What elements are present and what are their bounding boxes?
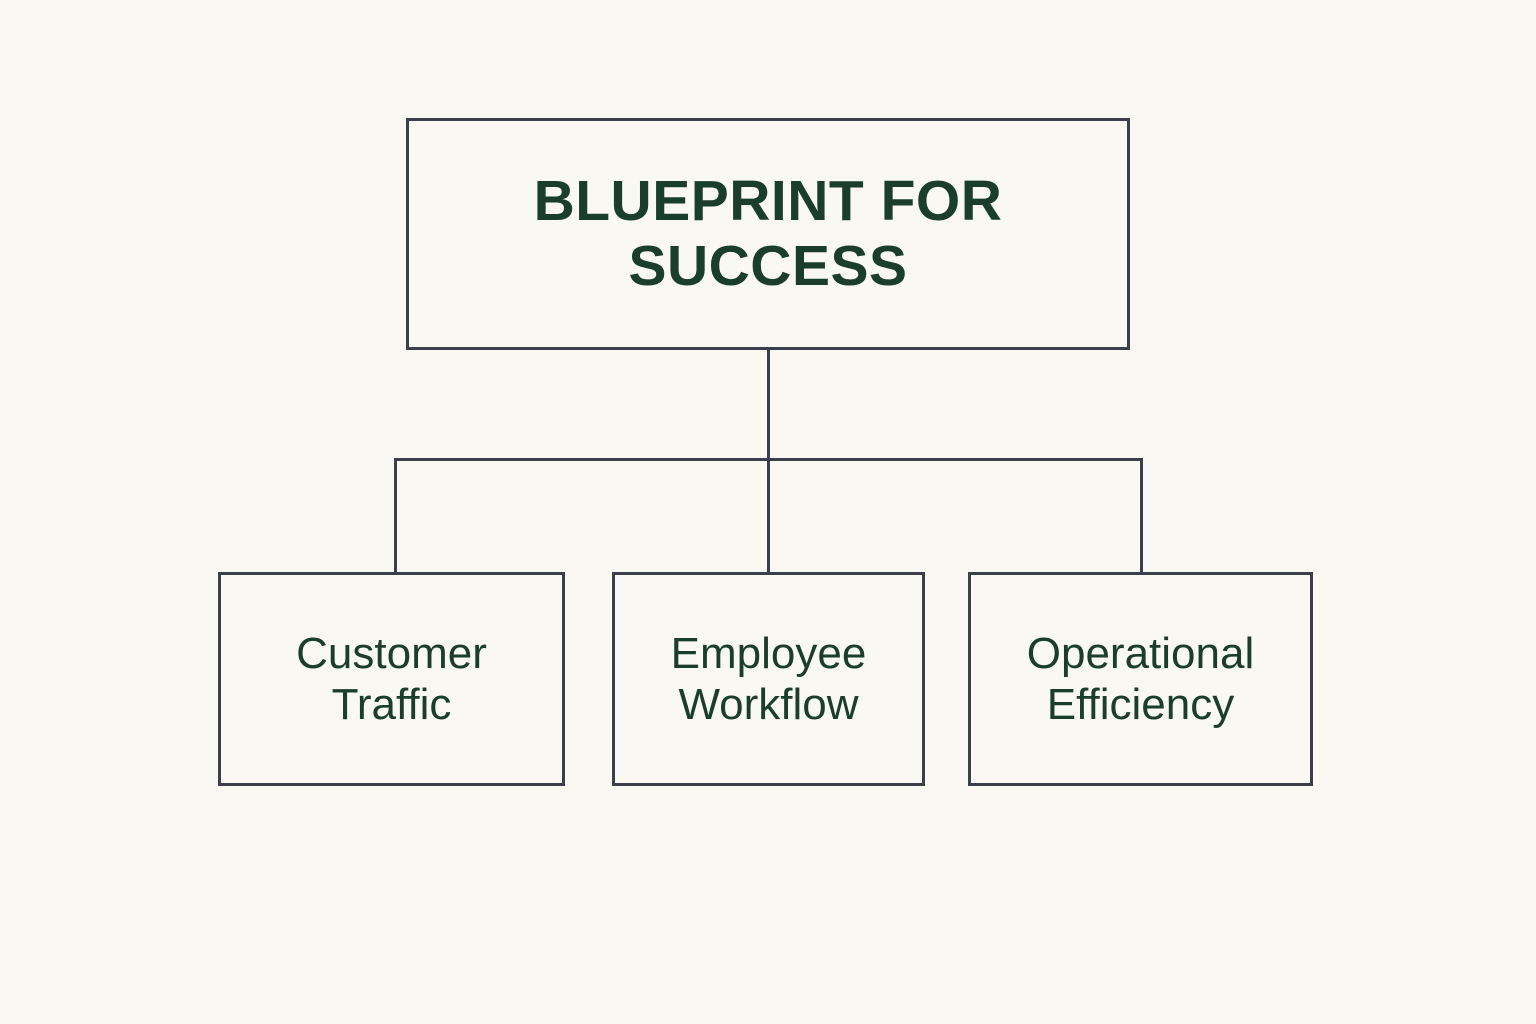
node-operational-efficiency-label: Operational Efficiency bbox=[971, 628, 1310, 730]
node-customer-traffic[interactable]: Customer Traffic bbox=[218, 572, 565, 786]
node-root-label: Blueprint For Success bbox=[409, 169, 1127, 299]
diagram-canvas: Blueprint For Success Customer Traffic E… bbox=[0, 0, 1536, 1024]
node-employee-workflow[interactable]: Employee Workflow bbox=[612, 572, 925, 786]
node-blueprint-for-success[interactable]: Blueprint For Success bbox=[406, 118, 1130, 350]
node-employee-workflow-label: Employee Workflow bbox=[615, 628, 922, 730]
node-customer-traffic-label: Customer Traffic bbox=[221, 628, 562, 730]
connector-drop-customer-traffic bbox=[394, 458, 397, 574]
node-operational-efficiency[interactable]: Operational Efficiency bbox=[968, 572, 1313, 786]
connector-drop-employee-workflow bbox=[767, 458, 770, 574]
connector-root-trunk bbox=[767, 347, 770, 461]
connector-drop-operational-efficiency bbox=[1140, 458, 1143, 574]
